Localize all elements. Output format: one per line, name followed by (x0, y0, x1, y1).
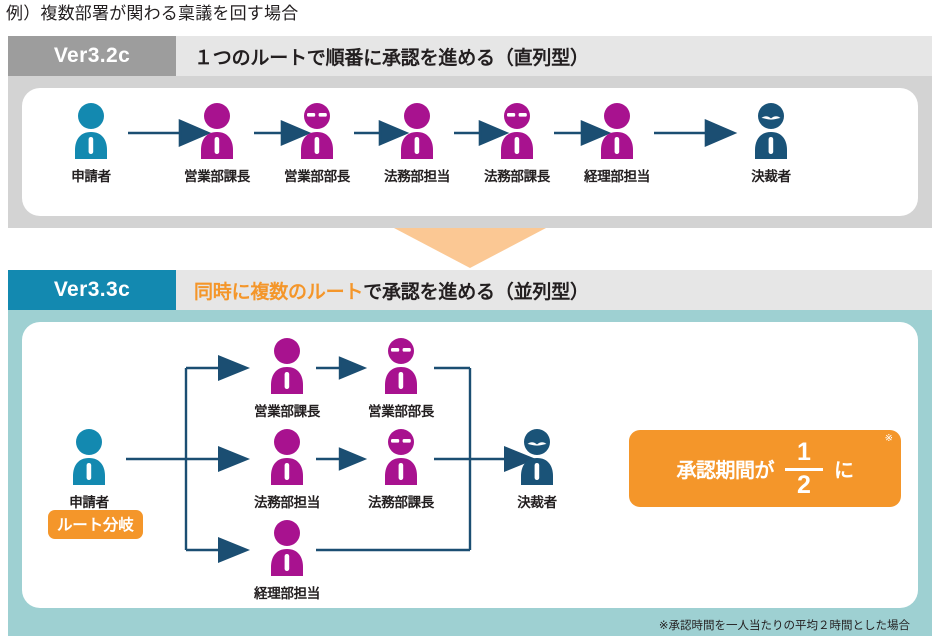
person-icon (196, 102, 238, 164)
parallel-node-label: 営業部課長 (250, 400, 324, 420)
serial-node-label: 申請者 (54, 165, 128, 185)
serial-flow-card: 申請者 営業部課長 営業部部長 (22, 88, 918, 216)
flow-connector (394, 228, 546, 268)
person-mustache-icon (750, 102, 792, 164)
person-icon (396, 102, 438, 164)
parallel-node-approver[interactable]: 決裁者 (500, 428, 574, 511)
parallel-node-label: 法務部課長 (364, 491, 438, 511)
serial-node-sales-director[interactable]: 営業部部長 (280, 102, 354, 185)
person-glasses-icon (296, 102, 338, 164)
parallel-node-legal-staff[interactable]: 法務部担当 (250, 428, 324, 511)
serial-node-approver[interactable]: 決裁者 (734, 102, 808, 185)
parallel-title-rest: で承認を進める（並列型） (363, 277, 589, 304)
serial-node-legal-staff[interactable]: 法務部担当 (380, 102, 454, 185)
serial-section-header: Ver3.2c １つのルートで順番に承認を進める（直列型） (8, 36, 932, 76)
parallel-flow-card: 申請者 ルート分岐 営業部課長 (22, 322, 918, 608)
callout-prefix: 承認期間が (677, 454, 775, 483)
callout-fraction: 1 2 (785, 440, 823, 498)
person-icon (68, 428, 110, 490)
person-glasses-icon (380, 428, 422, 490)
parallel-version-badge: Ver3.3c (8, 270, 176, 310)
serial-section-title: １つのルートで順番に承認を進める（直列型） (176, 36, 932, 76)
route-branch-badge[interactable]: ルート分岐 (48, 510, 143, 539)
parallel-title-highlight: 同時に複数のルート (194, 277, 363, 304)
footnote: ※承認時間を一人当たりの平均２時間とした場合 (659, 617, 910, 633)
serial-node-label: 法務部課長 (480, 165, 554, 185)
serial-node-label: 経理部担当 (580, 165, 654, 185)
person-icon (266, 337, 308, 399)
parallel-node-label: 法務部担当 (250, 491, 324, 511)
benefit-callout: 承認期間が 1 2 に ※ (629, 430, 901, 507)
parallel-node-accounting-staff[interactable]: 経理部担当 (250, 519, 324, 602)
parallel-node-sales-manager[interactable]: 営業部課長 (250, 337, 324, 420)
serial-section-body: 申請者 営業部課長 営業部部長 (8, 76, 932, 228)
parallel-node-label: 決裁者 (500, 491, 574, 511)
person-icon (266, 428, 308, 490)
chevron-down-icon (394, 228, 546, 268)
parallel-node-label: 営業部部長 (364, 400, 438, 420)
person-glasses-icon (380, 337, 422, 399)
person-glasses-icon (496, 102, 538, 164)
callout-numerator: 1 (797, 440, 811, 465)
footnote-mark-icon: ※ (885, 434, 893, 444)
callout-denominator: 2 (797, 473, 811, 498)
person-mustache-icon (516, 428, 558, 490)
serial-node-applicant[interactable]: 申請者 (54, 102, 128, 185)
parallel-section-header: Ver3.3c 同時に複数のルートで承認を進める（並列型） (8, 270, 932, 310)
serial-node-label: 法務部担当 (380, 165, 454, 185)
person-icon (70, 102, 112, 164)
person-icon (266, 519, 308, 581)
parallel-node-label: 経理部担当 (250, 582, 324, 602)
person-icon (596, 102, 638, 164)
serial-node-label: 営業部部長 (280, 165, 354, 185)
callout-suffix: に (834, 454, 854, 483)
serial-node-sales-manager[interactable]: 営業部課長 (180, 102, 254, 185)
page-title: 例）複数部署が関わる稟議を回す場合 (6, 0, 298, 24)
serial-node-label: 決裁者 (734, 165, 808, 185)
parallel-section-title: 同時に複数のルートで承認を進める（並列型） (176, 270, 932, 310)
serial-node-label: 営業部課長 (180, 165, 254, 185)
serial-version-badge: Ver3.2c (8, 36, 176, 76)
slide-canvas: 例）複数部署が関わる稟議を回す場合 Ver3.2c １つのルートで順番に承認を進… (0, 0, 940, 644)
parallel-node-label: 申請者 (52, 491, 126, 511)
parallel-node-applicant[interactable]: 申請者 (52, 428, 126, 511)
parallel-node-legal-manager[interactable]: 法務部課長 (364, 428, 438, 511)
serial-node-legal-manager[interactable]: 法務部課長 (480, 102, 554, 185)
serial-node-accounting-staff[interactable]: 経理部担当 (580, 102, 654, 185)
parallel-node-sales-director[interactable]: 営業部部長 (364, 337, 438, 420)
parallel-section-body: 申請者 ルート分岐 営業部課長 (8, 310, 932, 636)
